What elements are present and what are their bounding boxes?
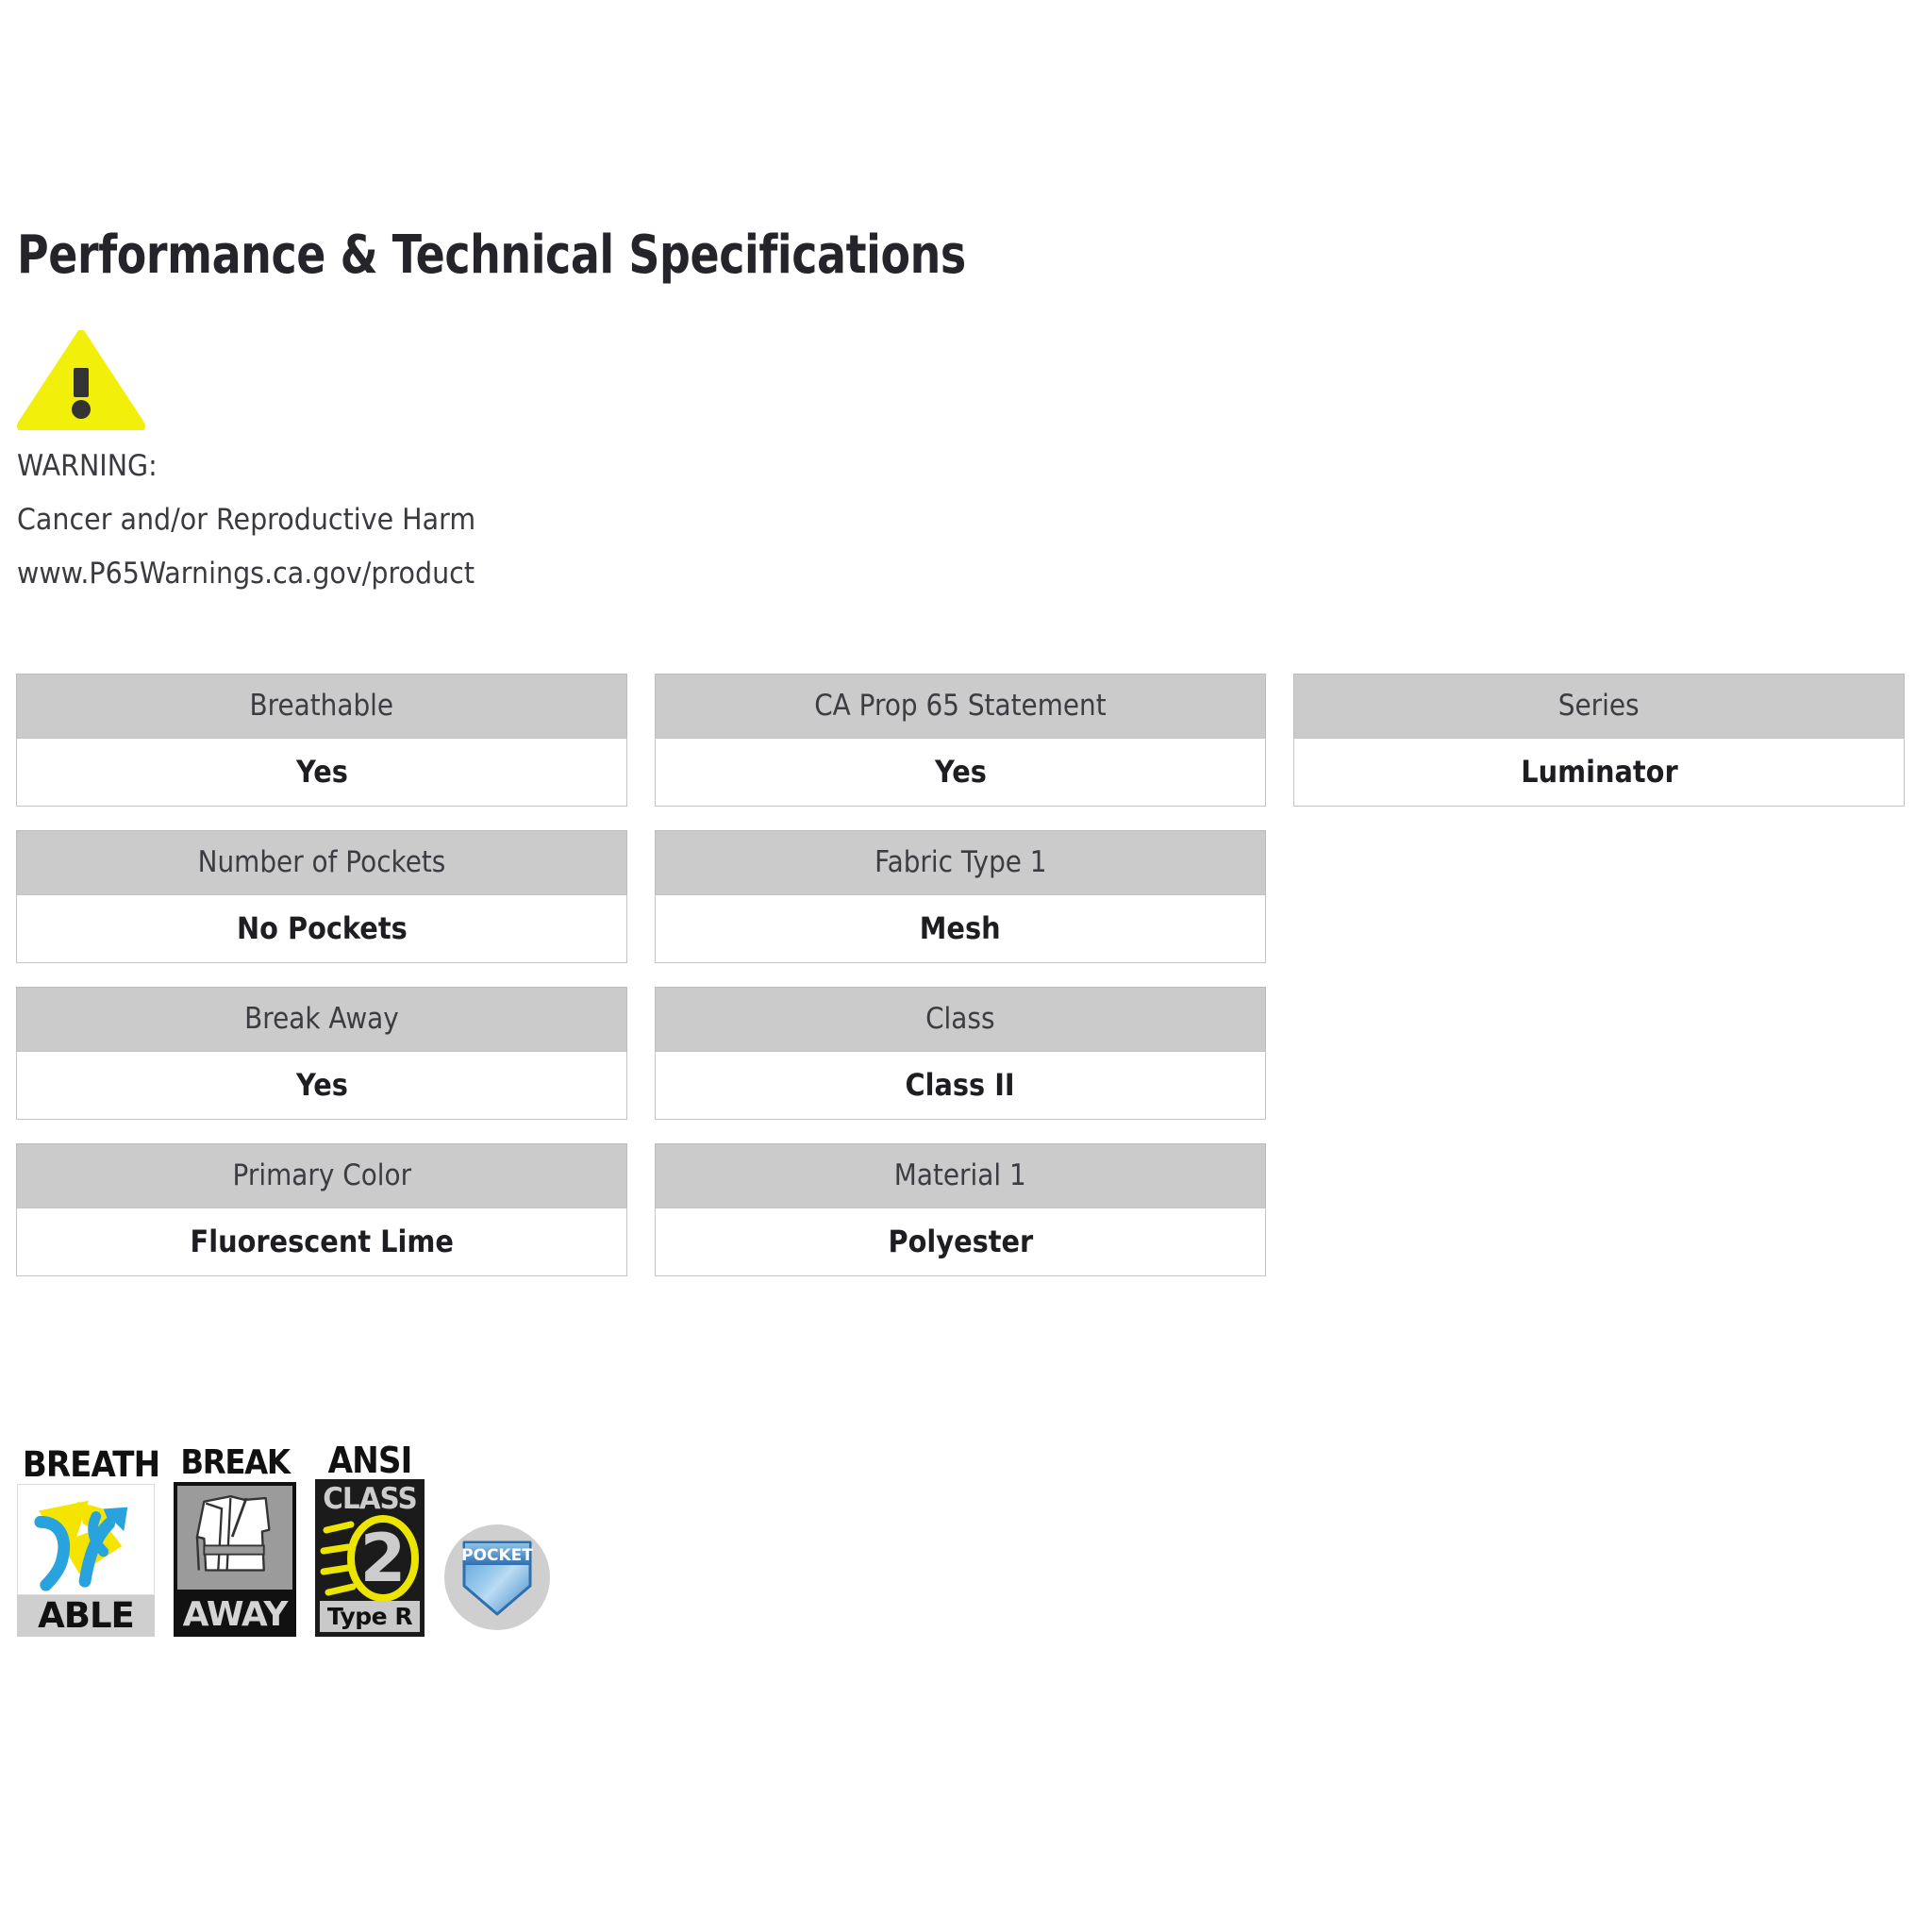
spec-label: Fabric Type 1 (655, 830, 1266, 894)
breathable-badge-top-text: BREATH (23, 1446, 149, 1484)
break-away-vest-icon (174, 1482, 296, 1593)
spec-label: Primary Color (16, 1143, 627, 1207)
spec-label-text: Series (1558, 675, 1640, 738)
spec-label-text: Primary Color (232, 1144, 411, 1207)
spec-value-text: Yes (296, 1052, 348, 1119)
spec-value: Polyester (655, 1207, 1266, 1276)
spec-label-text: Break Away (244, 988, 399, 1051)
ansi-class-2-badge: ANSI CLASS 2 Type R (315, 1441, 425, 1637)
spec-value: Yes (16, 1051, 627, 1120)
pocket-shield-icon: POCKET (443, 1524, 551, 1631)
spec-label: Breathable (16, 674, 627, 738)
spec-label: Series (1293, 674, 1905, 738)
spec-cell-number-of-pockets: Number of Pockets No Pockets (16, 830, 627, 963)
warning-line-2: Cancer and/or Reproductive Harm (17, 493, 676, 547)
spec-cell-ca-prop-65-statement: CA Prop 65 Statement Yes (655, 674, 1266, 807)
spec-value-text: No Pockets (237, 895, 408, 962)
spec-value-text: Luminator (1521, 739, 1677, 806)
spec-row: Breathable Yes CA Prop 65 Statement Yes … (16, 674, 1912, 807)
spec-cell-material-1: Material 1 Polyester (655, 1143, 1266, 1276)
spec-label-text: Fabric Type 1 (874, 831, 1046, 894)
spec-value: Fluorescent Lime (16, 1207, 627, 1276)
spec-value-text: Mesh (920, 895, 1001, 962)
spec-label: CA Prop 65 Statement (655, 674, 1266, 738)
spec-cell-series: Series Luminator (1293, 674, 1905, 807)
spec-label-text: CA Prop 65 Statement (814, 675, 1106, 738)
spec-label: Break Away (16, 987, 627, 1051)
spec-value: Luminator (1293, 738, 1905, 807)
specification-grid: Breathable Yes CA Prop 65 Statement Yes … (16, 674, 1912, 1300)
spec-label-text: Breathable (250, 675, 394, 738)
spec-value: Class II (655, 1051, 1266, 1120)
spec-page: Performance & Technical Specifications W… (0, 0, 1932, 1932)
spec-label: Number of Pockets (16, 830, 627, 894)
prop65-warning-text: WARNING: Cancer and/or Reproductive Harm… (17, 440, 676, 601)
spec-value: Yes (16, 738, 627, 807)
breathable-badge-bottom-text: ABLE (17, 1595, 155, 1637)
break-away-badge-bottom-text: AWAY (174, 1593, 296, 1637)
spec-cell-breathable: Breathable Yes (16, 674, 627, 807)
spec-value-text: Class II (906, 1052, 1015, 1119)
spec-value: Yes (655, 738, 1266, 807)
break-away-badge: BREAK AWAY (174, 1444, 296, 1637)
spec-cell-class: Class Class II (655, 987, 1266, 1120)
spec-value: No Pockets (16, 894, 627, 963)
pocket-badge: POCKET (443, 1524, 551, 1631)
spec-value-text: Fluorescent Lime (190, 1208, 453, 1275)
spec-row: Break Away Yes Class Class II (16, 987, 1912, 1120)
ansi-badge-type-text: Type R (320, 1601, 420, 1632)
ansi-badge-body: CLASS 2 Type R (315, 1479, 425, 1637)
spec-row: Primary Color Fluorescent Lime Material … (16, 1143, 1912, 1276)
spec-cell-fabric-type-1: Fabric Type 1 Mesh (655, 830, 1266, 963)
spec-value-text: Yes (935, 739, 987, 806)
certification-badges: BREATH ABLE BREAK (17, 1441, 551, 1637)
ansi-badge-top-text: ANSI (321, 1441, 419, 1479)
warning-line-3: www.P65Warnings.ca.gov/product (17, 547, 676, 601)
spec-value-text: Polyester (888, 1208, 1033, 1275)
spec-label-text: Number of Pockets (198, 831, 446, 894)
spec-label-text: Material 1 (894, 1144, 1026, 1207)
warning-label: WARNING: (17, 440, 676, 493)
breathable-airflow-icon (17, 1484, 155, 1595)
break-away-badge-top-text: BREAK (180, 1444, 291, 1482)
pocket-shield-label: POCKET (461, 1546, 533, 1565)
warning-triangle-icon (17, 330, 145, 430)
spec-label: Material 1 (655, 1143, 1266, 1207)
spec-value: Mesh (655, 894, 1266, 963)
svg-text:2: 2 (360, 1520, 407, 1597)
page-title: Performance & Technical Specifications (17, 225, 966, 286)
spec-cell-break-away: Break Away Yes (16, 987, 627, 1120)
spec-row: Number of Pockets No Pockets Fabric Type… (16, 830, 1912, 963)
spec-label-text: Class (925, 988, 994, 1051)
spec-value-text: Yes (296, 739, 348, 806)
spec-label: Class (655, 987, 1266, 1051)
prop65-warning-block: WARNING: Cancer and/or Reproductive Harm… (17, 330, 734, 601)
spec-cell-primary-color: Primary Color Fluorescent Lime (16, 1143, 627, 1276)
breathable-badge: BREATH ABLE (17, 1446, 155, 1637)
